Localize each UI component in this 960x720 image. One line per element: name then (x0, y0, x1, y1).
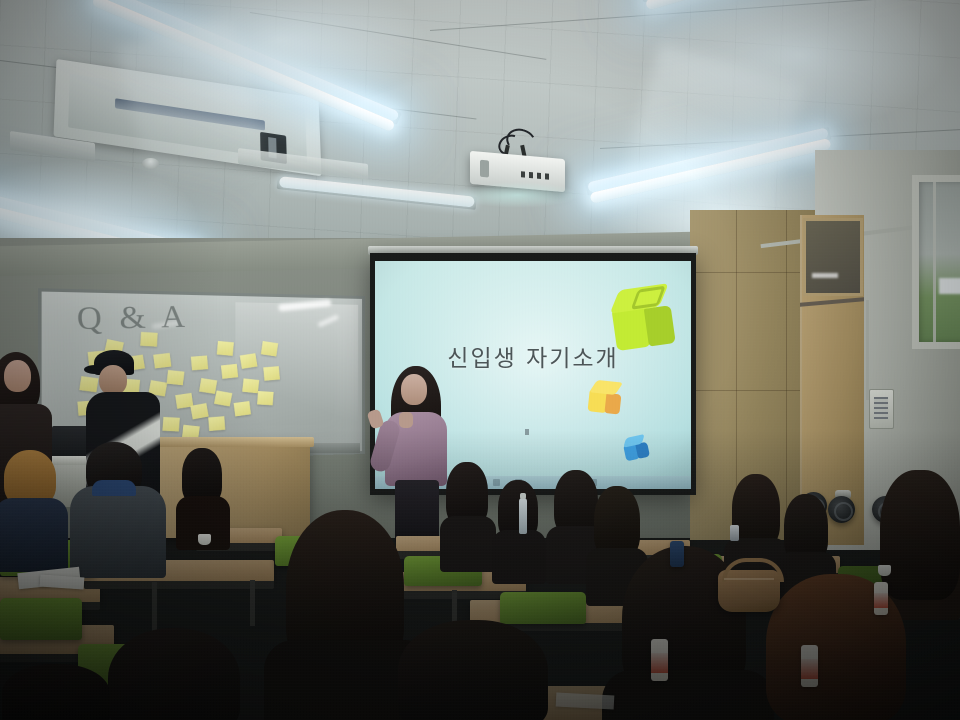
sticky-note (199, 378, 217, 394)
sticky-note (217, 341, 234, 356)
green-cube-graphic (609, 283, 679, 353)
window-sky-glare (939, 278, 960, 294)
sticky-note (79, 376, 98, 392)
paper-cup[interactable] (198, 534, 211, 545)
wall-control-panel[interactable] (869, 389, 894, 429)
handbag[interactable] (718, 570, 780, 612)
sticky-note (214, 390, 232, 406)
exterior-window (912, 175, 960, 349)
beverage-can[interactable] (651, 639, 668, 681)
window-mullion (933, 182, 936, 342)
sticky-note (208, 416, 225, 431)
sticky-note (190, 403, 208, 419)
smoke-detector-icon (142, 158, 159, 169)
beverage-can[interactable] (801, 645, 818, 687)
mouse-cursor-icon (525, 429, 529, 435)
blue-cube-graphic (622, 434, 651, 463)
projector-buttons (521, 171, 551, 180)
sticky-note (221, 364, 238, 379)
podium-top (156, 437, 314, 447)
sticky-note (263, 366, 280, 381)
desk-leg (152, 582, 157, 632)
sticky-note (257, 391, 274, 405)
ac-vent (115, 98, 265, 130)
sticky-note (162, 417, 179, 432)
paper-sheet[interactable] (556, 692, 615, 709)
projector-light-glow (455, 182, 580, 208)
hand-right (399, 412, 413, 428)
projector-lens-icon (480, 160, 489, 178)
head (99, 365, 127, 395)
paper-cup[interactable] (878, 565, 891, 576)
sticky-note (242, 378, 259, 393)
sticky-note (140, 332, 157, 347)
beverage-can-blue[interactable] (670, 541, 684, 567)
yellow-cube-graphic (587, 379, 624, 416)
head (401, 374, 427, 405)
chair[interactable] (500, 592, 586, 624)
whiteboard-sheen (235, 302, 358, 448)
whiteboard-heading: Q & A (76, 299, 190, 337)
sticky-note (234, 401, 251, 416)
sticky-note (261, 341, 278, 356)
classroom-photo: Q & A 신입생 자기소개 (0, 0, 960, 720)
door-transom-window (803, 218, 863, 296)
sticky-note (153, 353, 171, 369)
water-bottle[interactable] (519, 498, 527, 534)
beverage-can[interactable] (874, 582, 888, 615)
smartphone[interactable] (730, 525, 739, 541)
hood-collar (92, 480, 136, 496)
trousers (395, 480, 439, 544)
sticky-note (167, 370, 185, 385)
chair[interactable] (0, 598, 82, 640)
sticky-note (240, 353, 258, 369)
desk-leg (250, 580, 255, 626)
head (4, 360, 31, 392)
wall-conduit (866, 300, 869, 400)
stool[interactable] (828, 496, 855, 523)
sticky-note (191, 355, 208, 370)
